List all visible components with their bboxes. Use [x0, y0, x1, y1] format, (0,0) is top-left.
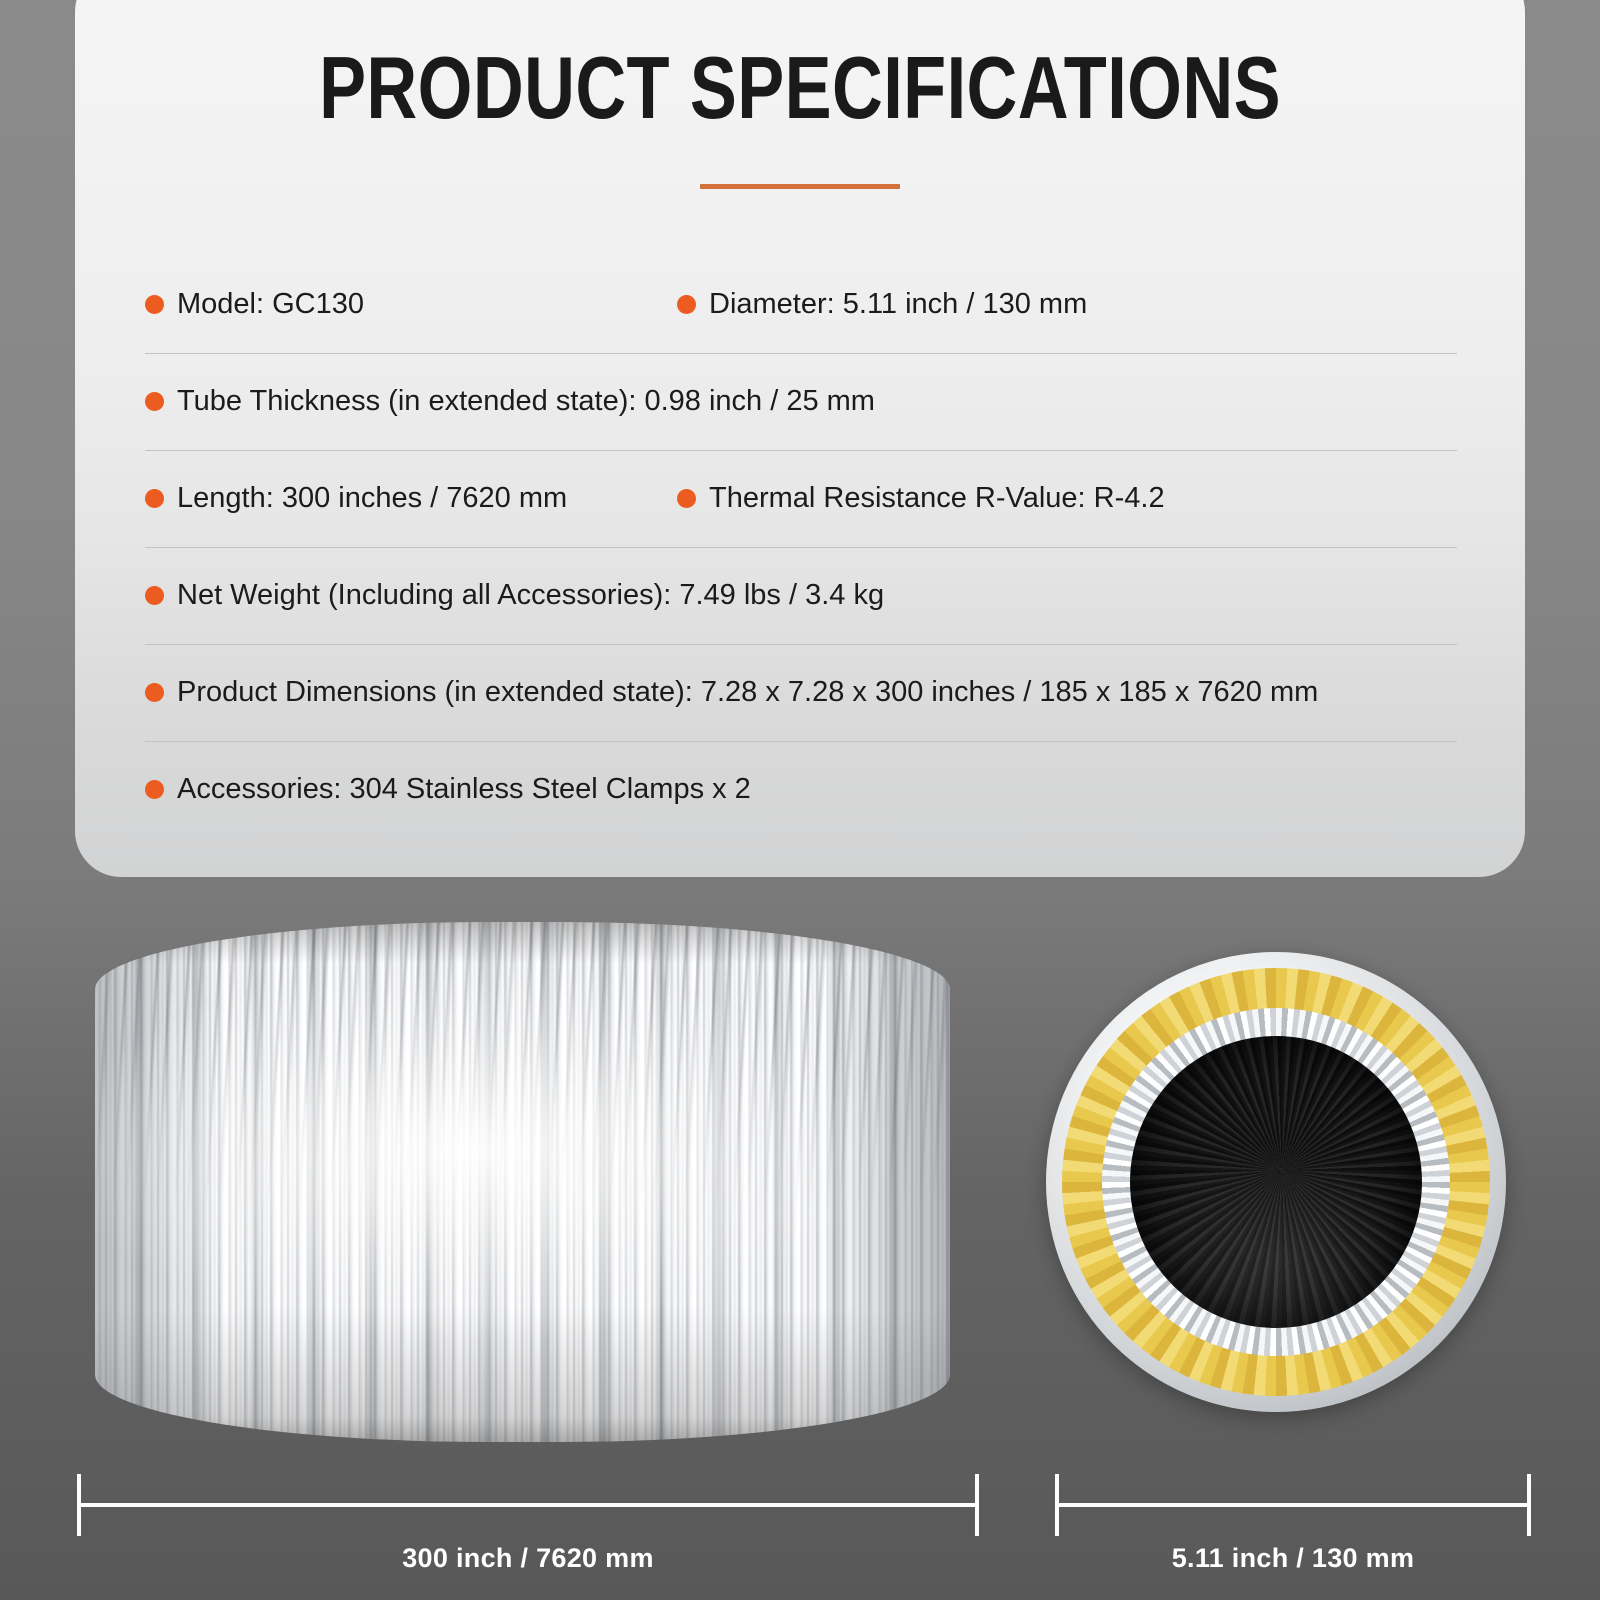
spec-item-thermal-resistance: Thermal Resistance R-Value: R-4.2 [677, 480, 1455, 516]
spec-label: Tube Thickness (in extended state): 0.98… [177, 383, 875, 419]
spec-row: Tube Thickness (in extended state): 0.98… [145, 353, 1455, 450]
dimension-end-cap-right [1527, 1474, 1531, 1536]
dimension-callouts: 300 inch / 7620 mm 5.11 inch / 130 mm [0, 1470, 1600, 1600]
spec-row: Length: 300 inches / 7620 mm Thermal Res… [145, 450, 1455, 547]
bullet-icon [145, 392, 164, 411]
spec-row: Accessories: 304 Stainless Steel Clamps … [145, 741, 1455, 838]
spec-item-product-dimensions: Product Dimensions (in extended state): … [145, 674, 1455, 710]
dimension-end-cap-right [975, 1474, 979, 1536]
spec-label: Thermal Resistance R-Value: R-4.2 [709, 480, 1165, 516]
spec-row: Net Weight (Including all Accessories): … [145, 547, 1455, 644]
spec-item-length: Length: 300 inches / 7620 mm [145, 480, 677, 516]
dimension-line [77, 1503, 979, 1507]
bullet-icon [145, 683, 164, 702]
bullet-icon [145, 780, 164, 799]
duct-bore-shading [1130, 1036, 1422, 1328]
spec-label: Diameter: 5.11 inch / 130 mm [709, 286, 1087, 322]
dimension-diameter: 5.11 inch / 130 mm [1055, 1470, 1531, 1600]
page-title: PRODUCT SPECIFICATIONS [220, 0, 1380, 132]
specifications-list: Model: GC130 Diameter: 5.11 inch / 130 m… [145, 256, 1455, 838]
dimension-length-label: 300 inch / 7620 mm [77, 1543, 979, 1574]
spec-label: Accessories: 304 Stainless Steel Clamps … [177, 771, 751, 807]
spec-label: Product Dimensions (in extended state): … [177, 674, 1318, 710]
spec-item-tube-thickness: Tube Thickness (in extended state): 0.98… [145, 383, 1455, 419]
dimension-length: 300 inch / 7620 mm [77, 1470, 979, 1600]
product-specification-page: PRODUCT SPECIFICATIONS Model: GC130 Diam… [0, 0, 1600, 1600]
bullet-icon [145, 489, 164, 508]
duct-highlight-sheen [95, 922, 950, 1442]
spec-item-accessories: Accessories: 304 Stainless Steel Clamps … [145, 771, 1455, 807]
dimension-diameter-label: 5.11 inch / 130 mm [1055, 1543, 1531, 1574]
title-block: PRODUCT SPECIFICATIONS [75, 0, 1525, 189]
specifications-card: PRODUCT SPECIFICATIONS Model: GC130 Diam… [75, 0, 1525, 877]
spec-item-model: Model: GC130 [145, 286, 677, 322]
spec-item-diameter: Diameter: 5.11 inch / 130 mm [677, 286, 1455, 322]
dimension-line [1055, 1503, 1531, 1507]
bullet-icon [677, 489, 696, 508]
bullet-icon [145, 586, 164, 605]
title-underline-accent [700, 184, 900, 189]
spec-label: Length: 300 inches / 7620 mm [177, 480, 567, 516]
spec-label: Model: GC130 [177, 286, 364, 322]
spec-row: Model: GC130 Diameter: 5.11 inch / 130 m… [145, 256, 1455, 353]
product-image-area [0, 880, 1600, 1480]
bullet-icon [145, 295, 164, 314]
spec-item-net-weight: Net Weight (Including all Accessories): … [145, 577, 1455, 613]
bullet-icon [677, 295, 696, 314]
spec-label: Net Weight (Including all Accessories): … [177, 577, 884, 613]
duct-cross-section-image [1046, 952, 1506, 1412]
duct-side-view-image [95, 922, 950, 1442]
spec-row: Product Dimensions (in extended state): … [145, 644, 1455, 741]
